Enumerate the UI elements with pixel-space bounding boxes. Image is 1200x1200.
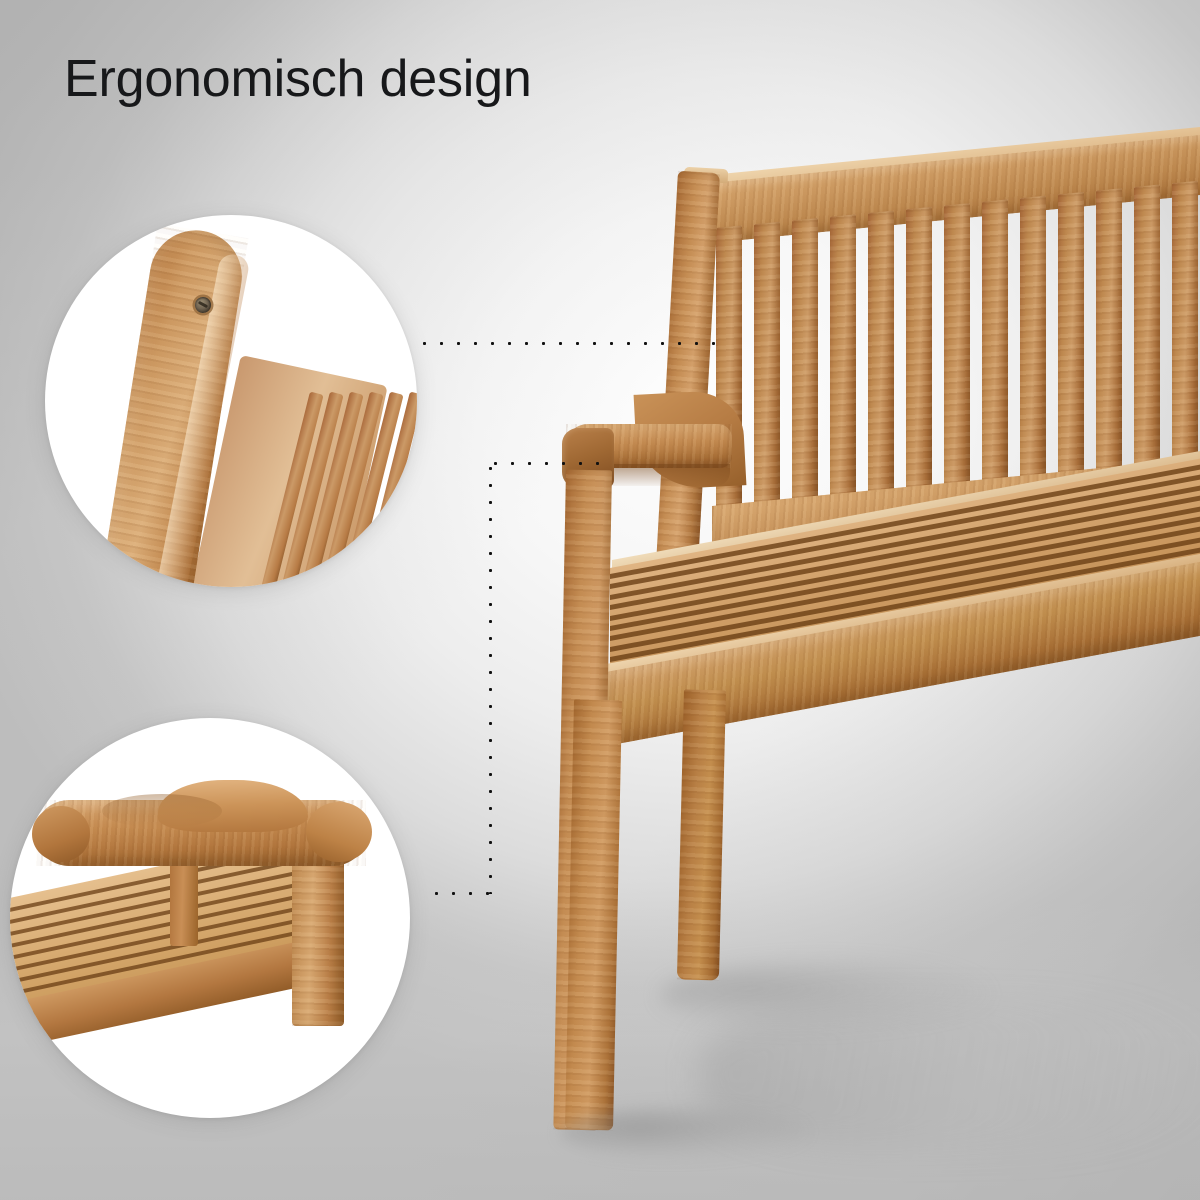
wood-grain-texture — [754, 222, 780, 525]
armrest-underside-shadow — [600, 464, 730, 486]
wood-grain-texture — [1134, 184, 1160, 487]
wood-grain-texture — [1058, 192, 1084, 495]
backrest-slat — [1172, 181, 1198, 484]
page-title: Ergonomisch design — [64, 52, 532, 107]
product-feature-image: Ergonomisch design — [0, 0, 1200, 1200]
backrest-slat — [1134, 184, 1160, 487]
wood-grain-texture — [830, 214, 856, 517]
wood-grain-texture — [292, 846, 344, 1026]
front-leg-shadow — [560, 1106, 810, 1160]
callout-armrest-seat-detail[interactable] — [10, 718, 410, 1118]
wood-grain-texture — [1020, 196, 1046, 499]
backrest-slat — [944, 203, 970, 506]
back-post — [655, 171, 720, 593]
detail-armrest-contour-dip — [102, 794, 222, 828]
wood-grain-texture — [1172, 181, 1198, 484]
detail-front-leg — [292, 846, 344, 1026]
wood-grain-texture — [944, 203, 970, 506]
backrest-slat — [906, 207, 932, 510]
callout-backrest-image — [45, 215, 417, 587]
wood-grain-texture — [868, 211, 894, 514]
detail-arm-support-post — [170, 856, 198, 946]
wood-grain-texture — [982, 199, 1008, 502]
wood-grain-texture — [565, 699, 622, 1130]
wood-grain-texture — [677, 689, 726, 980]
detail-armrest-right-end — [306, 802, 372, 862]
backrest-slat — [868, 211, 894, 514]
backrest-slat — [1058, 192, 1084, 495]
wood-grain-texture — [655, 171, 720, 593]
callout-backrest-top-detail[interactable] — [45, 215, 417, 587]
backrest-slat — [1096, 188, 1122, 491]
backrest-slat — [982, 199, 1008, 502]
detail-armrest-left-end — [32, 806, 90, 862]
front-leg — [565, 699, 622, 1130]
wood-grain-texture — [906, 207, 932, 510]
backrest-slat — [1020, 196, 1046, 499]
backrest-slat — [830, 214, 856, 517]
wood-grain-texture — [1096, 188, 1122, 491]
callout-armrest-image — [10, 718, 410, 1118]
backrest-slat — [754, 222, 780, 525]
rear-leg — [677, 689, 726, 980]
wood-grain-texture — [792, 218, 818, 521]
backrest-slat — [792, 218, 818, 521]
